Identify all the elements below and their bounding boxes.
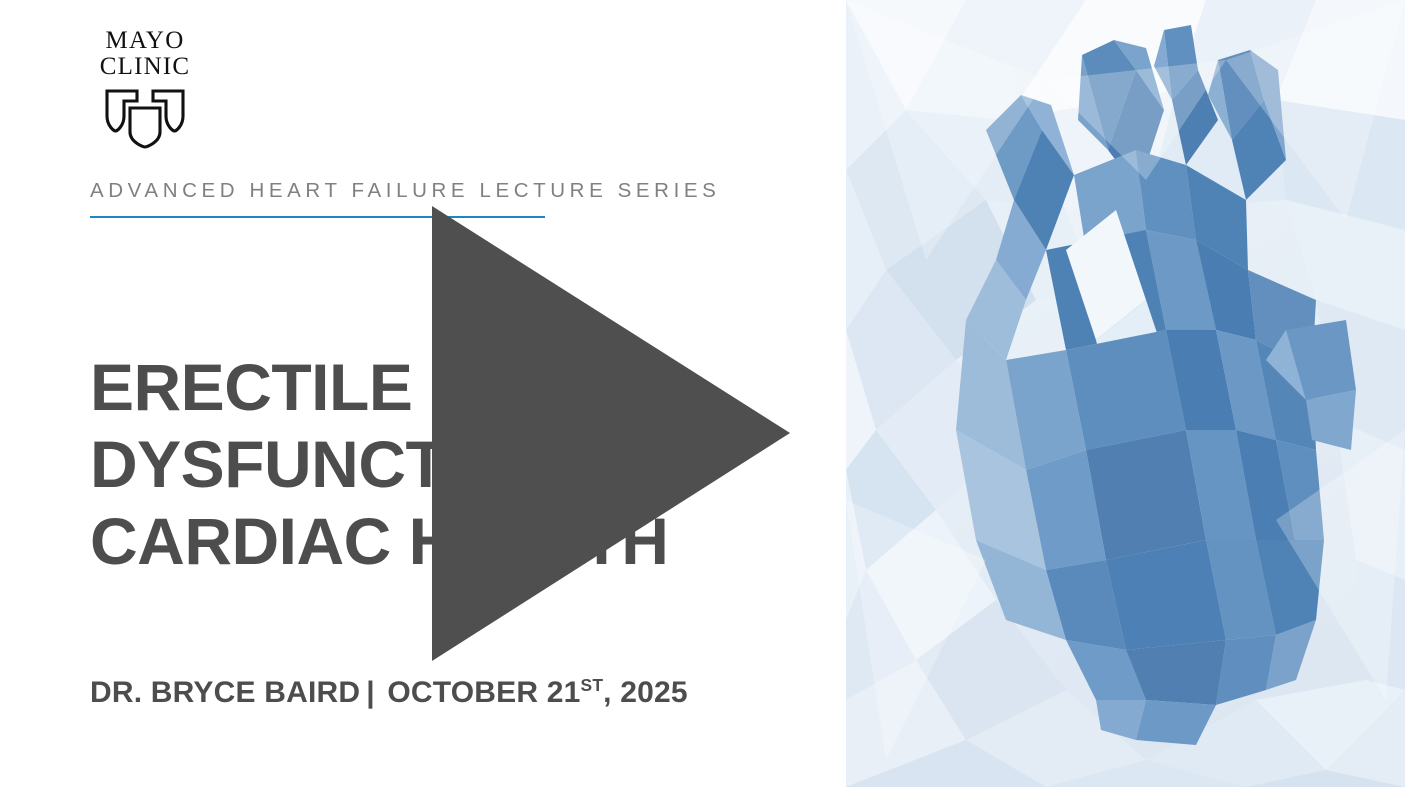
presenter-line: DR. BRYCE BAIRD| OCTOBER 21ST, 2025: [90, 676, 688, 710]
lecture-series-label: ADVANCED HEART FAILURE LECTURE SERIES: [90, 180, 810, 203]
presenter-name: DR. BRYCE BAIRD: [90, 676, 360, 709]
low-poly-heart-image: [846, 0, 1405, 787]
series-accent-rule: [90, 216, 545, 218]
mayo-three-shields-icon: [103, 88, 187, 150]
logo-wordmark: MAYO CLINIC: [90, 28, 200, 80]
presentation-date-suffix: , 2025: [603, 676, 688, 709]
presenter-divider: |: [360, 676, 379, 709]
title-slide: MAYO CLINIC ADVANCED HEART FAIL: [0, 0, 1405, 787]
presentation-date-ordinal: ST: [581, 675, 604, 695]
heart-illustration-panel: [846, 0, 1405, 787]
logo-word-mayo: MAYO: [90, 28, 200, 54]
mayo-clinic-logo: MAYO CLINIC: [90, 28, 200, 148]
presentation-date-prefix: OCTOBER 21: [387, 676, 580, 709]
logo-word-clinic: CLINIC: [90, 54, 200, 80]
lecture-series-block: ADVANCED HEART FAILURE LECTURE SERIES: [90, 180, 810, 218]
